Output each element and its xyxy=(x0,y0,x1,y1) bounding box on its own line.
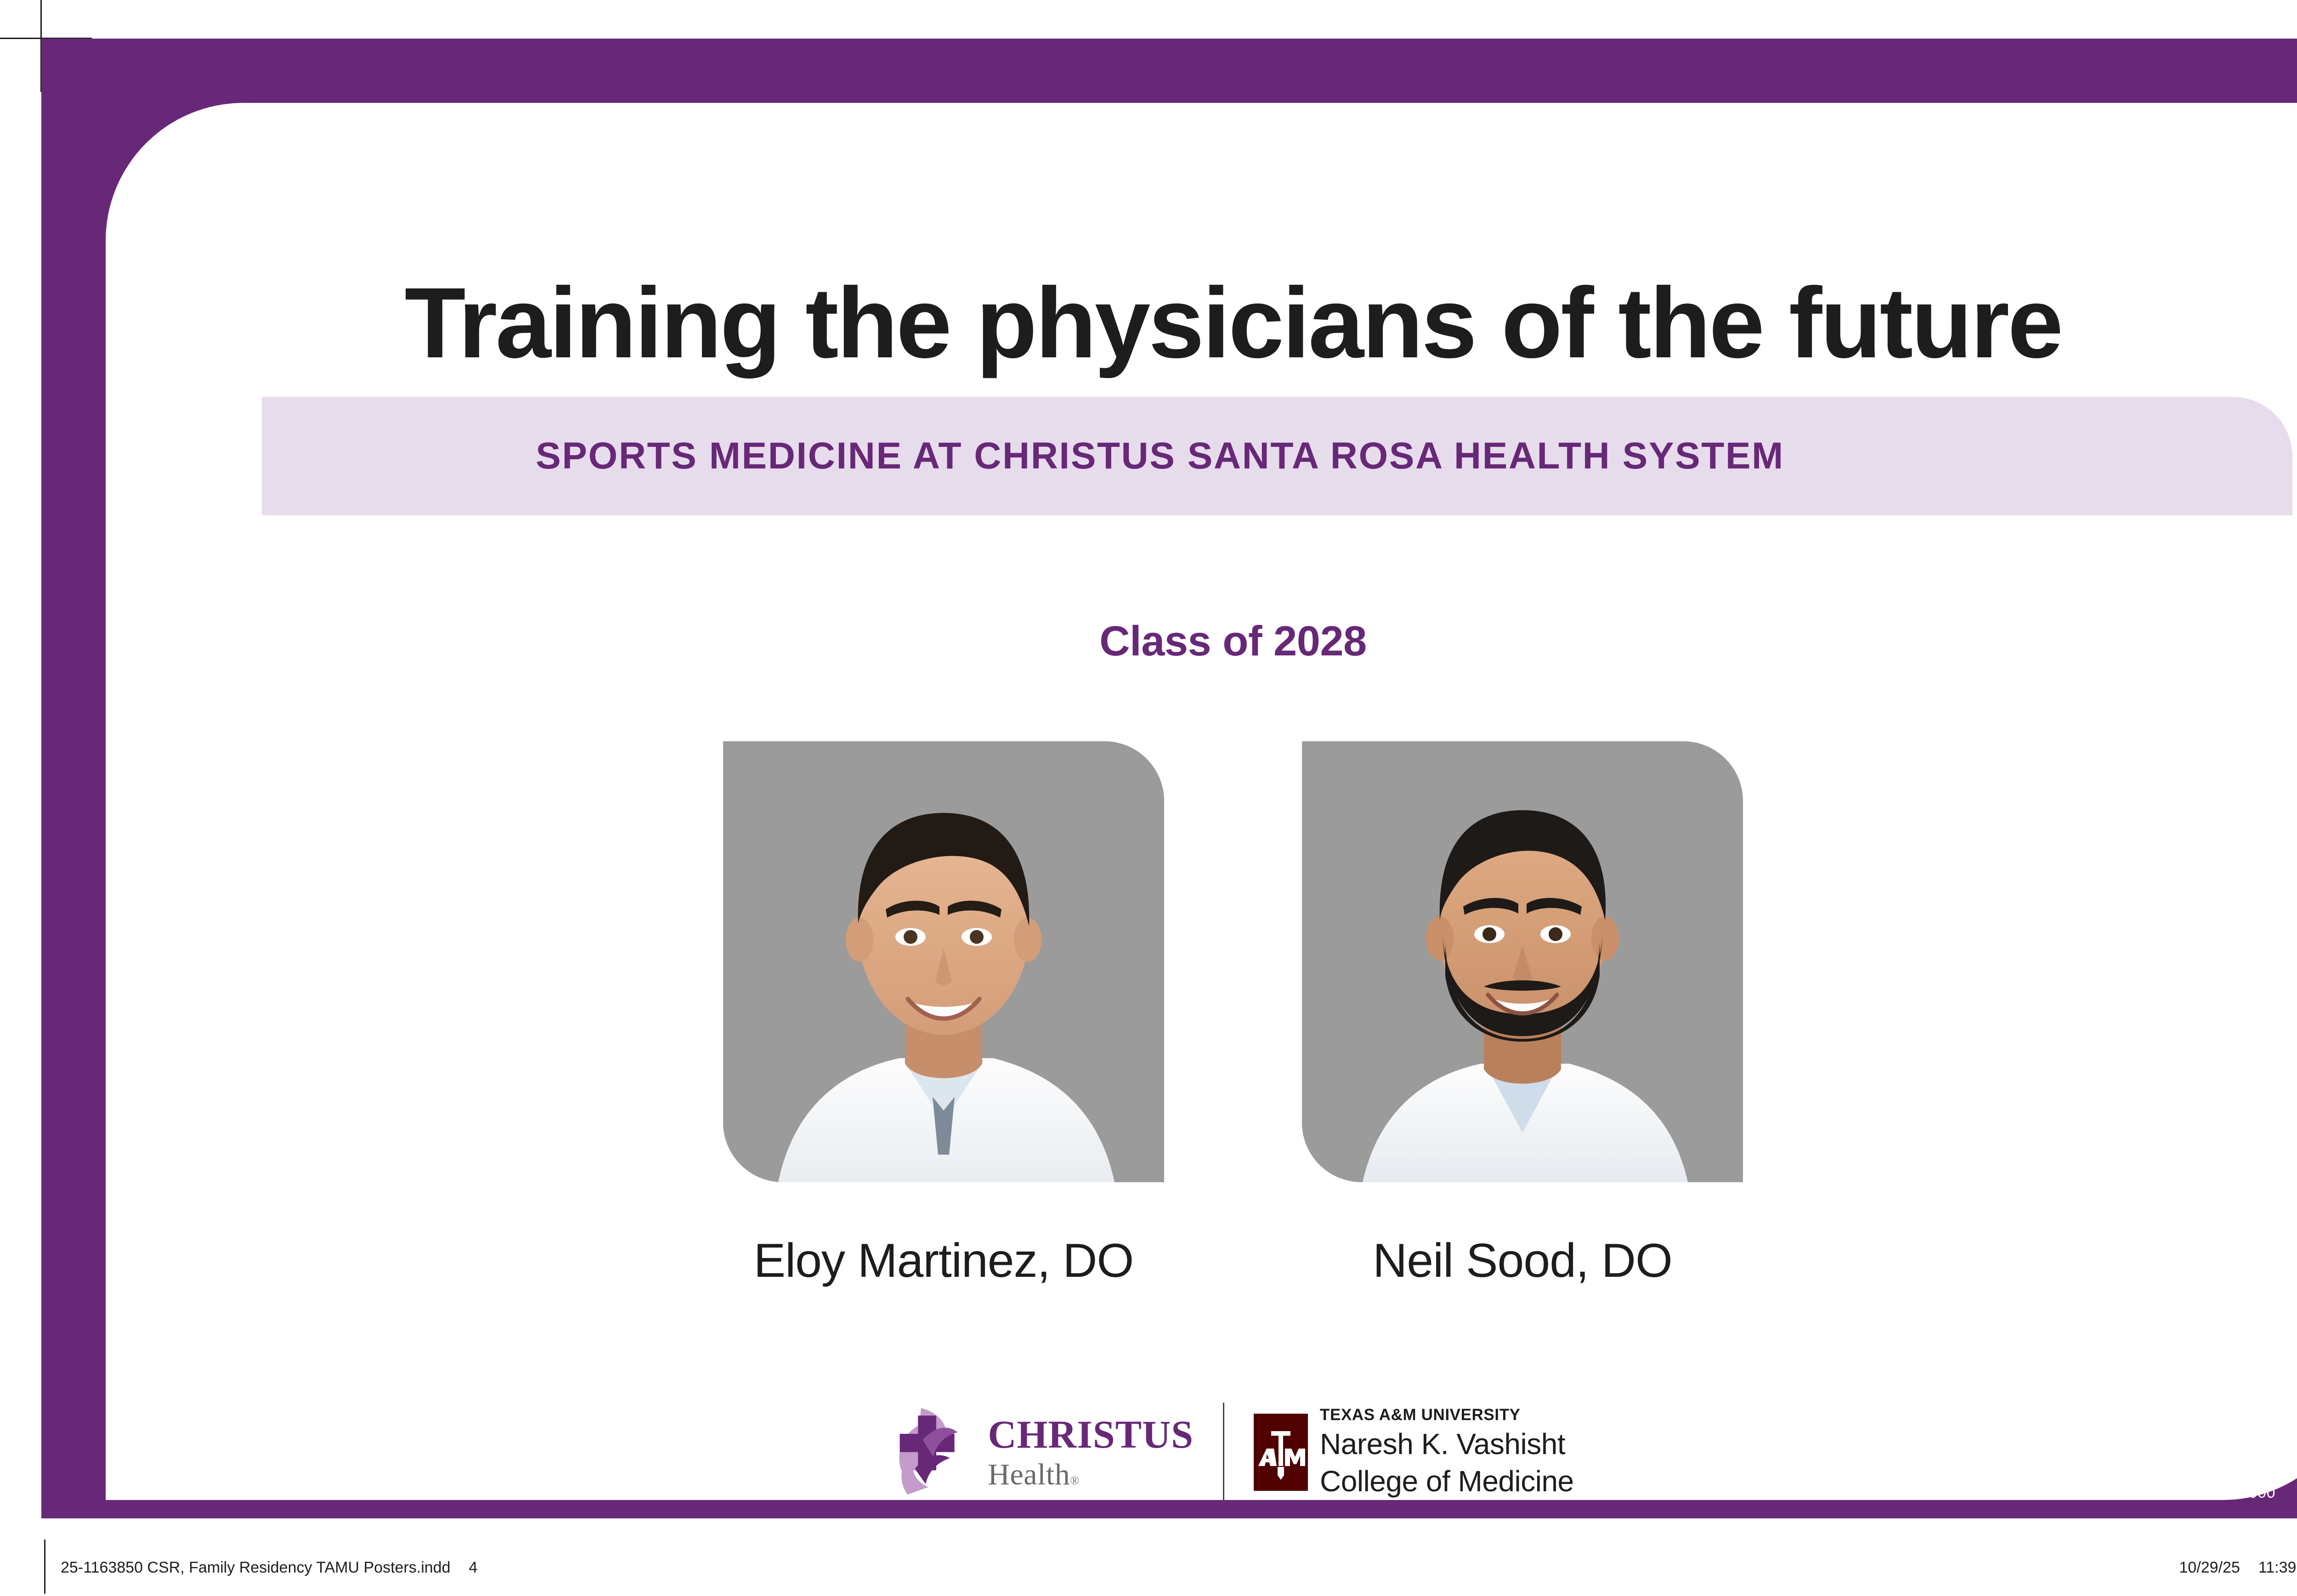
poster-purple-frame: 00-000000 Training the physicians of the… xyxy=(41,39,2297,1518)
tamu-college-name: College of Medicine xyxy=(1320,1465,1574,1498)
texas-am-atm-icon xyxy=(1254,1414,1308,1491)
poster-white-card: Training the physicians of the future SP… xyxy=(106,103,2297,1500)
christus-cross-icon xyxy=(892,1405,976,1499)
page-number: 4 xyxy=(469,1559,477,1576)
texas-am-college-of-medicine-logo: TEXAS A&M UNIVERSITY Naresh K. Vashisht … xyxy=(1254,1406,1574,1498)
tamu-university-label: TEXAS A&M UNIVERSITY xyxy=(1320,1406,1574,1424)
resident-portrait xyxy=(1302,741,1743,1182)
indesign-file-name: 25-1163850 CSR, Family Residency TAMU Po… xyxy=(61,1559,450,1576)
page-title: Training the physicians of the future xyxy=(106,271,2297,376)
logo-divider xyxy=(1223,1403,1224,1500)
christus-health-logo: CHRISTUS Health® xyxy=(892,1405,1194,1499)
logo-lockup: CHRISTUS Health® xyxy=(106,1403,2297,1500)
christus-health-subword: Health® xyxy=(988,1460,1194,1490)
residents-row: Eloy Martinez, DO xyxy=(106,741,2297,1288)
resident-name: Eloy Martinez, DO xyxy=(754,1234,1134,1288)
resident-name: Neil Sood, DO xyxy=(1373,1234,1672,1288)
christus-wordmark: CHRISTUS xyxy=(988,1415,1194,1454)
print-slug-left: 25-1163850 CSR, Family Residency TAMU Po… xyxy=(61,1559,477,1577)
print-date: 10/29/25 xyxy=(2179,1559,2240,1576)
resident-portrait xyxy=(723,741,1164,1182)
subtitle-banner: SPORTS MEDICINE AT CHRISTUS SANTA ROSA H… xyxy=(262,397,2292,515)
subtitle-text: SPORTS MEDICINE AT CHRISTUS SANTA ROSA H… xyxy=(536,434,1784,478)
class-year-label: Class of 2028 xyxy=(106,617,2297,665)
print-time: 11:39 AM xyxy=(2258,1559,2297,1576)
print-slug-right: 10/29/2511:39 AM xyxy=(2179,1559,2297,1577)
crop-mark-bottom-left-vertical xyxy=(44,1540,45,1594)
resident-card: Neil Sood, DO xyxy=(1302,741,1743,1288)
tamu-donor-name: Naresh K. Vashisht xyxy=(1320,1428,1574,1461)
resident-card: Eloy Martinez, DO xyxy=(723,741,1164,1288)
